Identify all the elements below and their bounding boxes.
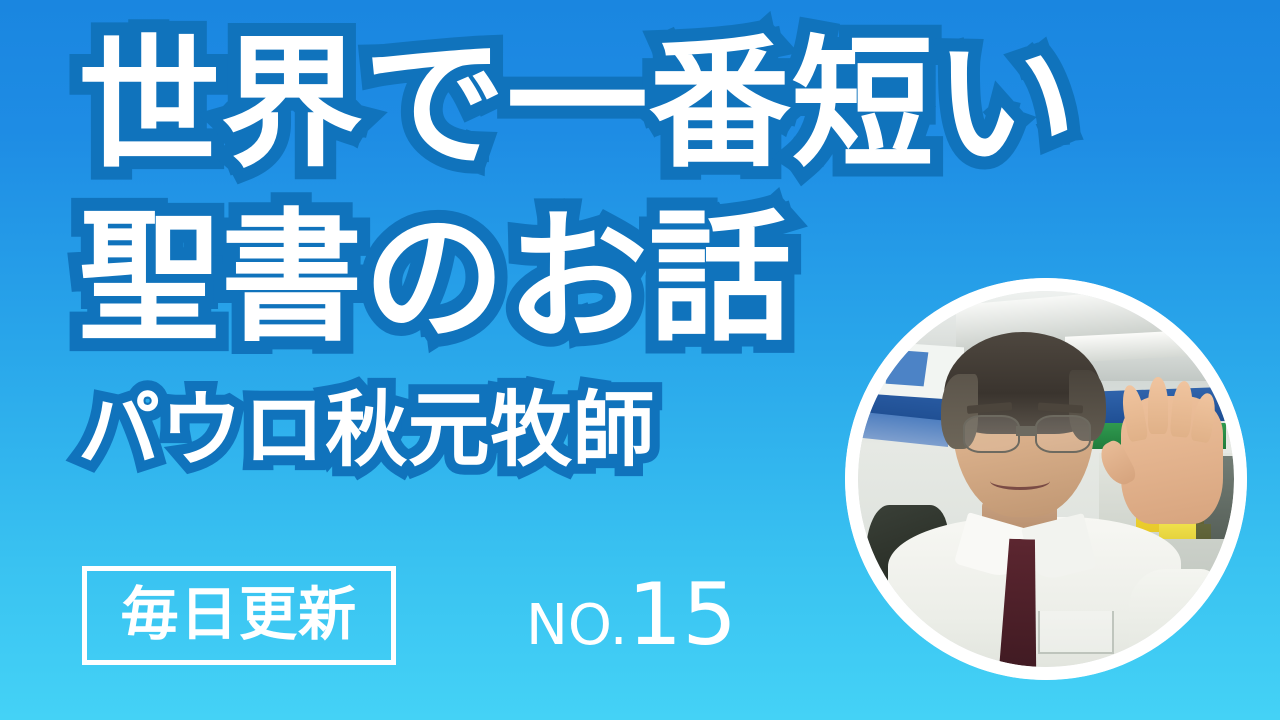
glasses-lens-left bbox=[963, 415, 1020, 453]
daily-update-badge-label: 毎日更新 bbox=[121, 585, 358, 643]
glasses-lens-right bbox=[1035, 415, 1092, 453]
episode-number-value: 15 bbox=[628, 565, 737, 665]
person-smile bbox=[990, 471, 1050, 489]
portrait-scene bbox=[858, 291, 1234, 667]
scene-blue-logo bbox=[886, 350, 928, 386]
speaker-portrait-image bbox=[858, 291, 1234, 667]
daily-update-badge: 毎日更新 bbox=[82, 566, 396, 665]
person-shirt-pocket bbox=[1038, 611, 1113, 654]
glasses-bridge bbox=[1016, 426, 1035, 435]
hand-finger-2 bbox=[1148, 377, 1168, 433]
speaker-portrait bbox=[845, 278, 1247, 680]
title-line-1: 世界で一番短い bbox=[78, 34, 1098, 194]
episode-number: NO.15 bbox=[526, 572, 737, 658]
person-raised-arm bbox=[1129, 569, 1219, 667]
video-thumbnail: 世界で一番短い 聖書のお話 パウロ秋元牧師 毎日更新 NO.15 bbox=[0, 0, 1280, 720]
episode-number-prefix: NO. bbox=[526, 593, 628, 658]
